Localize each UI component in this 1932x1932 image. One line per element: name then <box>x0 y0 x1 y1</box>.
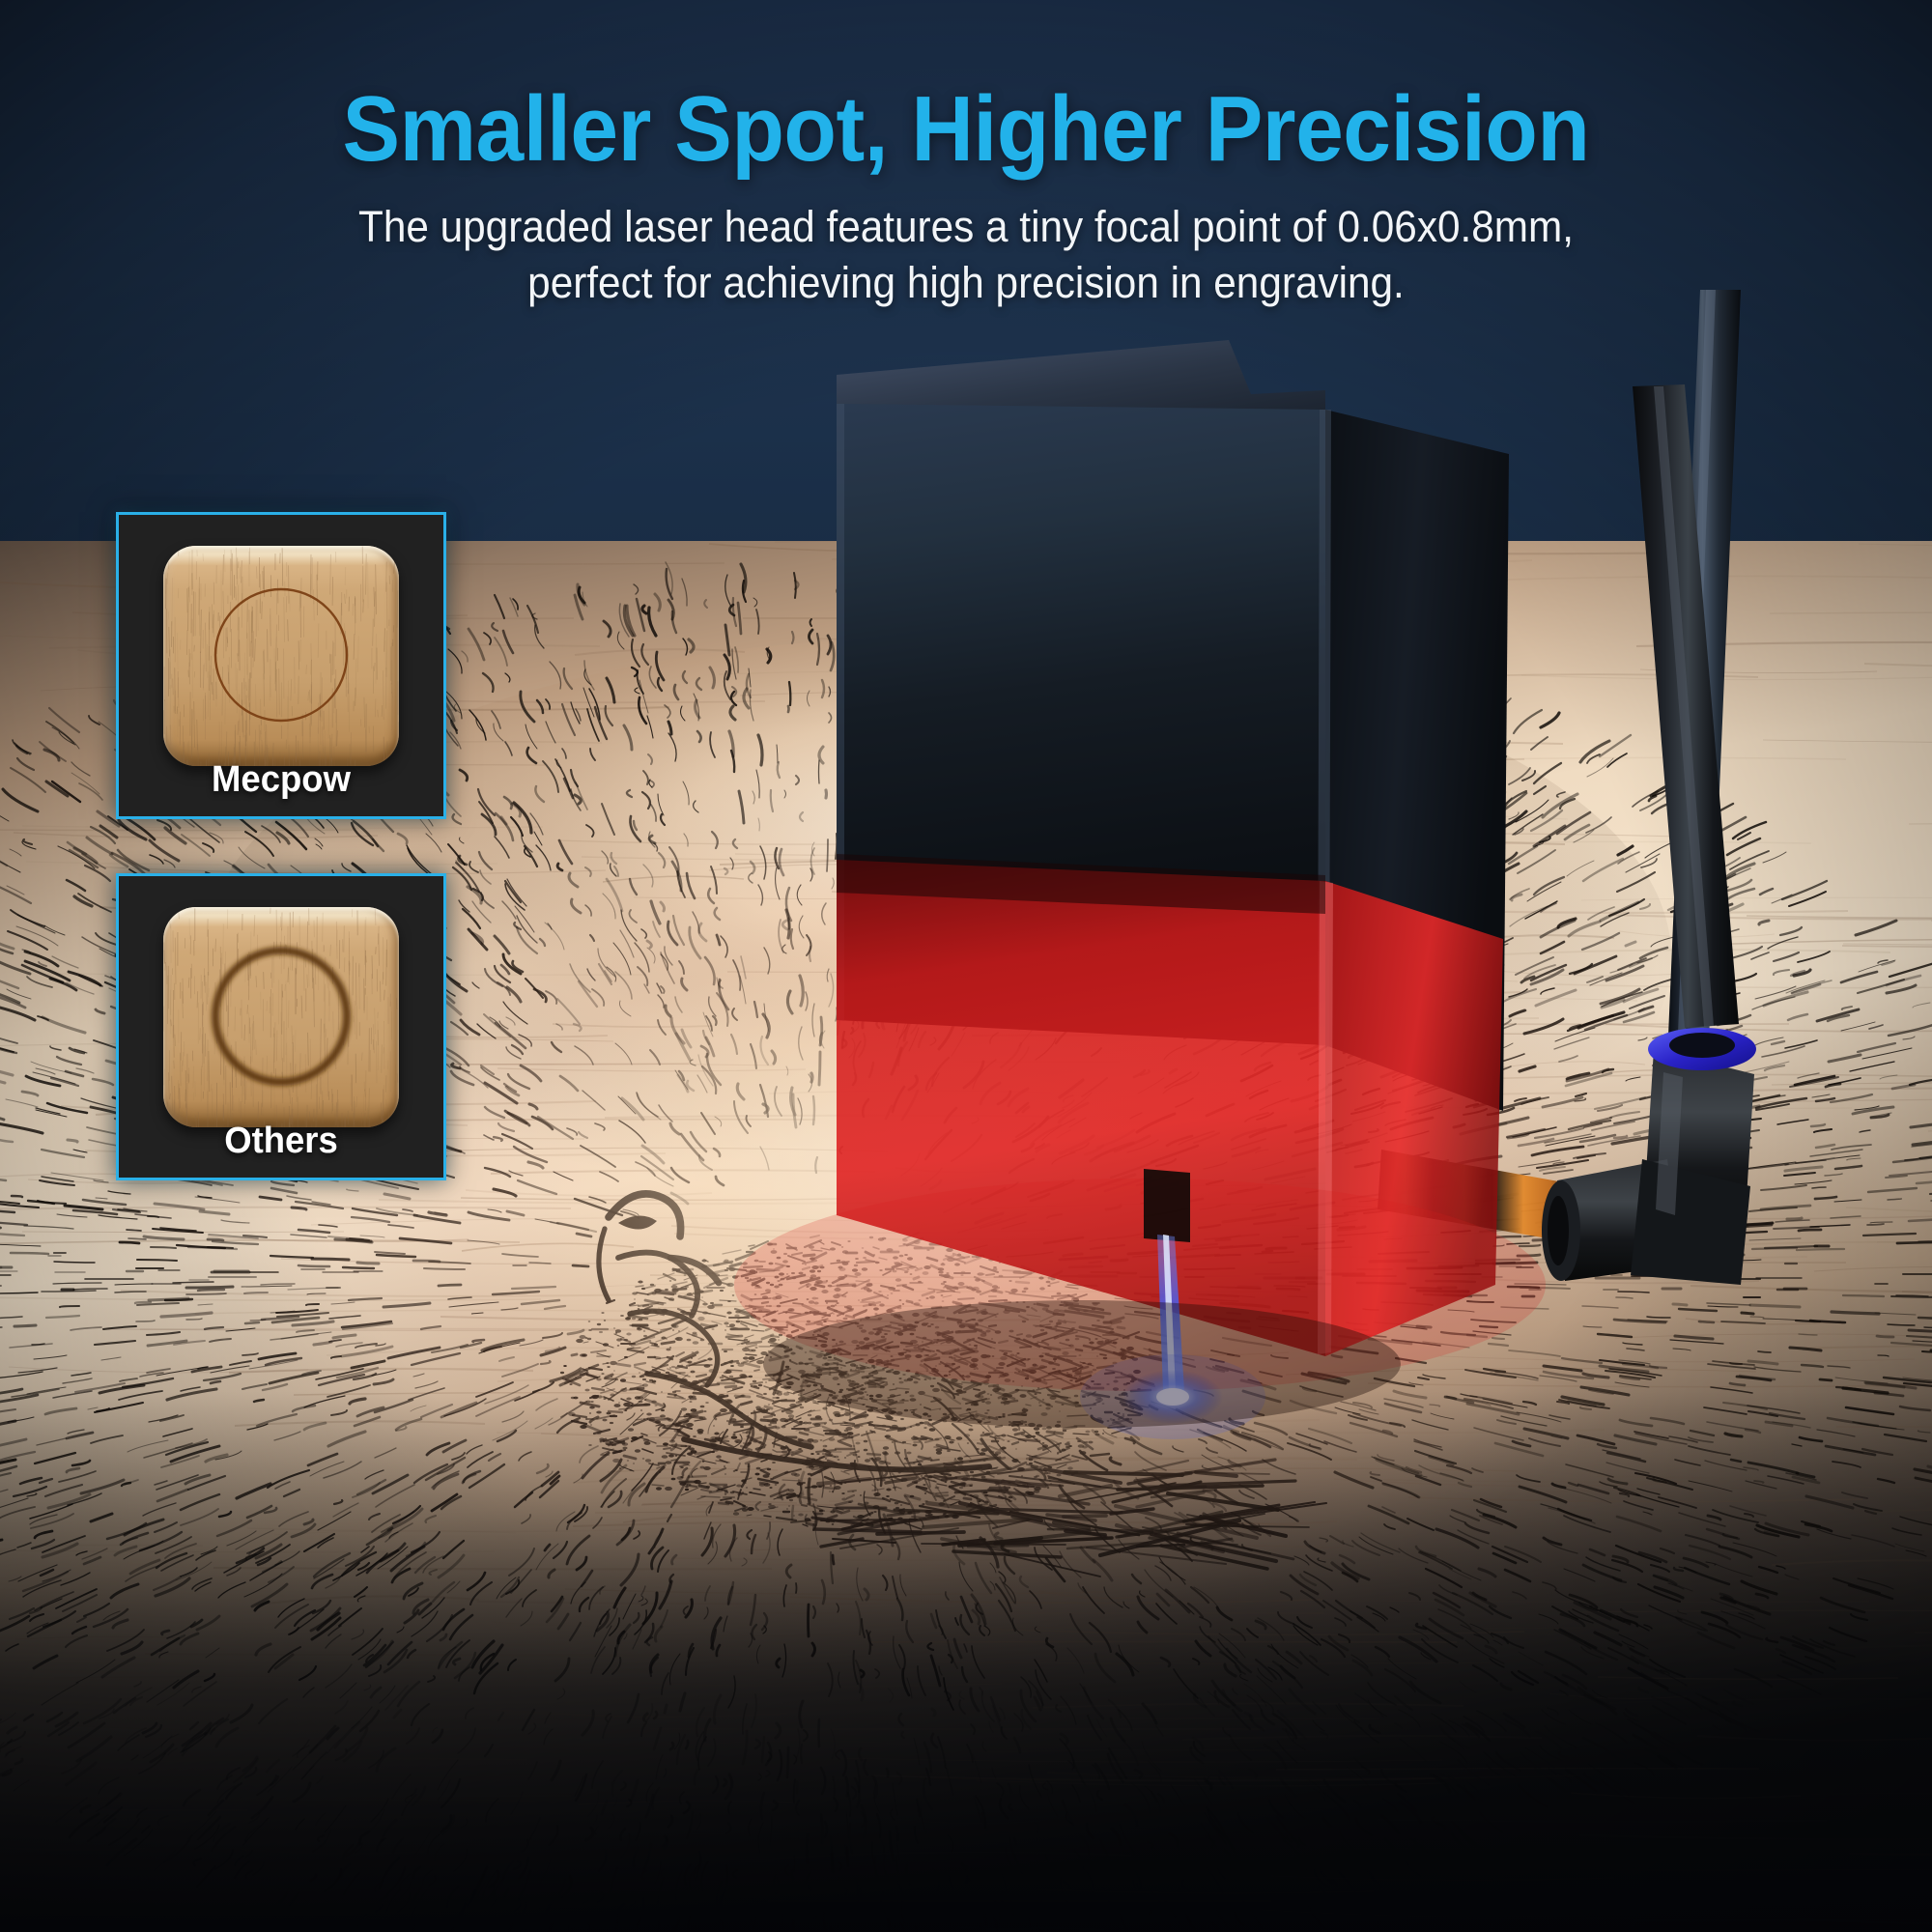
subtitle-line-1: The upgraded laser head features a tiny … <box>58 199 1874 256</box>
page-subtitle: The upgraded laser head features a tiny … <box>58 199 1874 312</box>
module-cast-shadow <box>763 1300 1401 1428</box>
engraved-circle-sharp-icon <box>163 546 399 766</box>
product-marketing-image: Smaller Spot, Higher Precision The upgra… <box>0 0 1932 1932</box>
comparison-card-mecpow[interactable]: Mecpow <box>116 512 446 819</box>
comparison-panel-group: Mecpow Others <box>116 512 446 1180</box>
page-title: Smaller Spot, Higher Precision <box>68 81 1864 178</box>
air-assist-nozzle <box>1542 1028 1756 1285</box>
comparison-card-label: Mecpow <box>126 759 438 801</box>
wood-sample-others <box>163 907 399 1127</box>
subtitle-line-2: perfect for achieving high precision in … <box>58 255 1874 312</box>
comparison-card-others[interactable]: Others <box>116 873 446 1180</box>
engraved-circle-blurry-icon <box>163 907 399 1127</box>
comparison-card-label: Others <box>126 1121 438 1162</box>
nozzle-aperture <box>1144 1169 1190 1242</box>
wood-sample-mecpow <box>163 546 399 766</box>
header-block: Smaller Spot, Higher Precision The upgra… <box>0 81 1932 312</box>
